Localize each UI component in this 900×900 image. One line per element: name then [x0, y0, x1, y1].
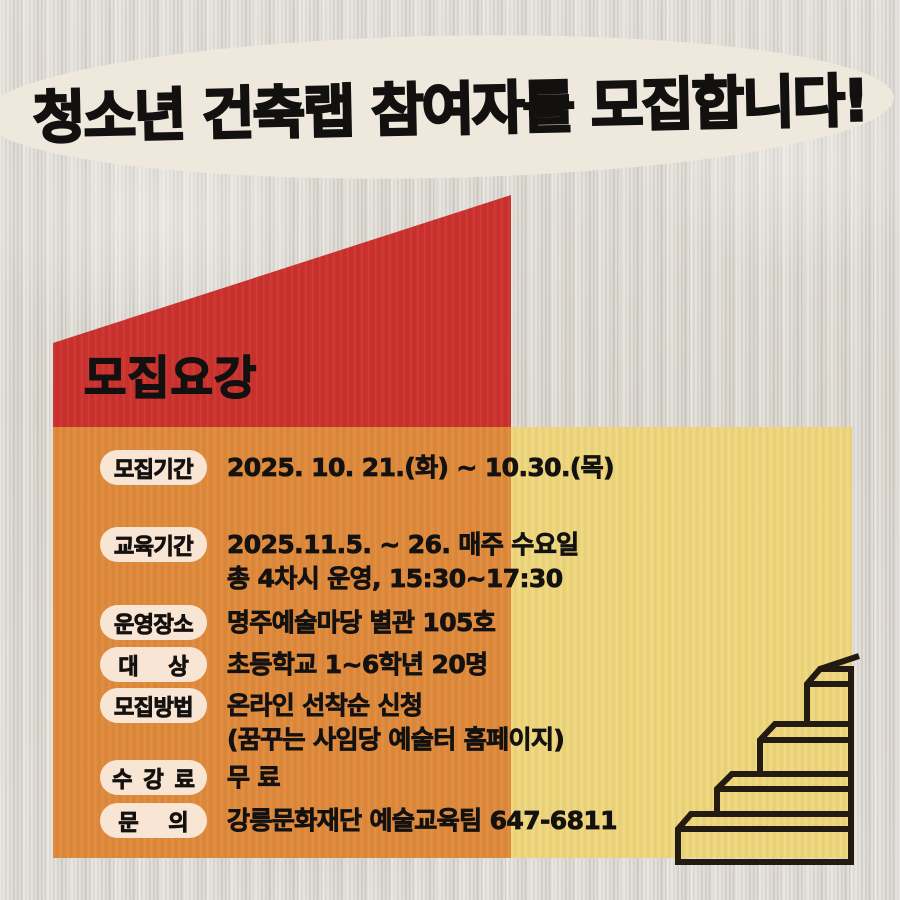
row-value-recruitment-period: 2025. 10. 21.(화) ~ 10.30.(목) [227, 450, 614, 485]
row-label-inquiry: 문 의 [100, 803, 207, 838]
value-line-2: 총 4차시 운영, 15:30~17:30 [227, 562, 579, 596]
table-row: 모집기간 2025. 10. 21.(화) ~ 10.30.(목) [100, 450, 614, 485]
staircase-icon [660, 580, 860, 870]
row-label-venue: 운영장소 [100, 605, 207, 640]
table-row: 문 의 강릉문화재단 예술교육팀 647-6811 [100, 803, 617, 838]
value-line-1: 강릉문화재단 예술교육팀 647-6811 [227, 806, 617, 835]
row-value-inquiry: 강릉문화재단 예술교육팀 647-6811 [227, 803, 617, 838]
row-value-fee: 무 료 [227, 760, 280, 795]
poster-canvas: 청소년 건축랩 참여자를 모집합니다! 모집요강 [0, 0, 900, 900]
row-value-target: 초등학교 1~6학년 20명 [227, 647, 488, 682]
value-line-1: 초등학교 1~6학년 20명 [227, 650, 488, 679]
table-row: 수강료 무 료 [100, 760, 280, 795]
table-row: 교육기간 2025.11.5. ~ 26. 매주 수요일 총 4차시 운영, 1… [100, 527, 579, 596]
value-line-1: 명주예술마당 별관 105호 [227, 608, 495, 637]
table-row: 대 상 초등학교 1~6학년 20명 [100, 647, 488, 682]
row-label-application-method: 모집방법 [100, 688, 207, 723]
section-heading: 모집요강 [84, 342, 257, 408]
value-line-1: 2025.11.5. ~ 26. 매주 수요일 [227, 530, 579, 559]
row-value-education-period: 2025.11.5. ~ 26. 매주 수요일 총 4차시 운영, 15:30~… [227, 527, 579, 596]
table-row: 모집방법 온라인 선착순 신청 (꿈꾸는 사임당 예술터 홈페이지) [100, 688, 564, 757]
value-line-1: 온라인 선착순 신청 [227, 691, 422, 720]
row-value-application-method: 온라인 선착순 신청 (꿈꾸는 사임당 예술터 홈페이지) [227, 688, 564, 757]
table-row: 운영장소 명주예술마당 별관 105호 [100, 605, 495, 640]
row-label-education-period: 교육기간 [100, 527, 207, 562]
row-label-fee: 수강료 [100, 760, 207, 795]
row-value-venue: 명주예술마당 별관 105호 [227, 605, 495, 640]
value-line-1: 무 료 [227, 763, 280, 792]
row-label-target: 대 상 [100, 647, 207, 682]
value-line-2: (꿈꾸는 사임당 예술터 홈페이지) [227, 723, 564, 757]
row-label-recruitment-period: 모집기간 [100, 450, 207, 485]
info-table: 모집기간 2025. 10. 21.(화) ~ 10.30.(목) 교육기간 2… [53, 427, 613, 858]
value-line-1: 2025. 10. 21.(화) ~ 10.30.(목) [227, 453, 614, 482]
